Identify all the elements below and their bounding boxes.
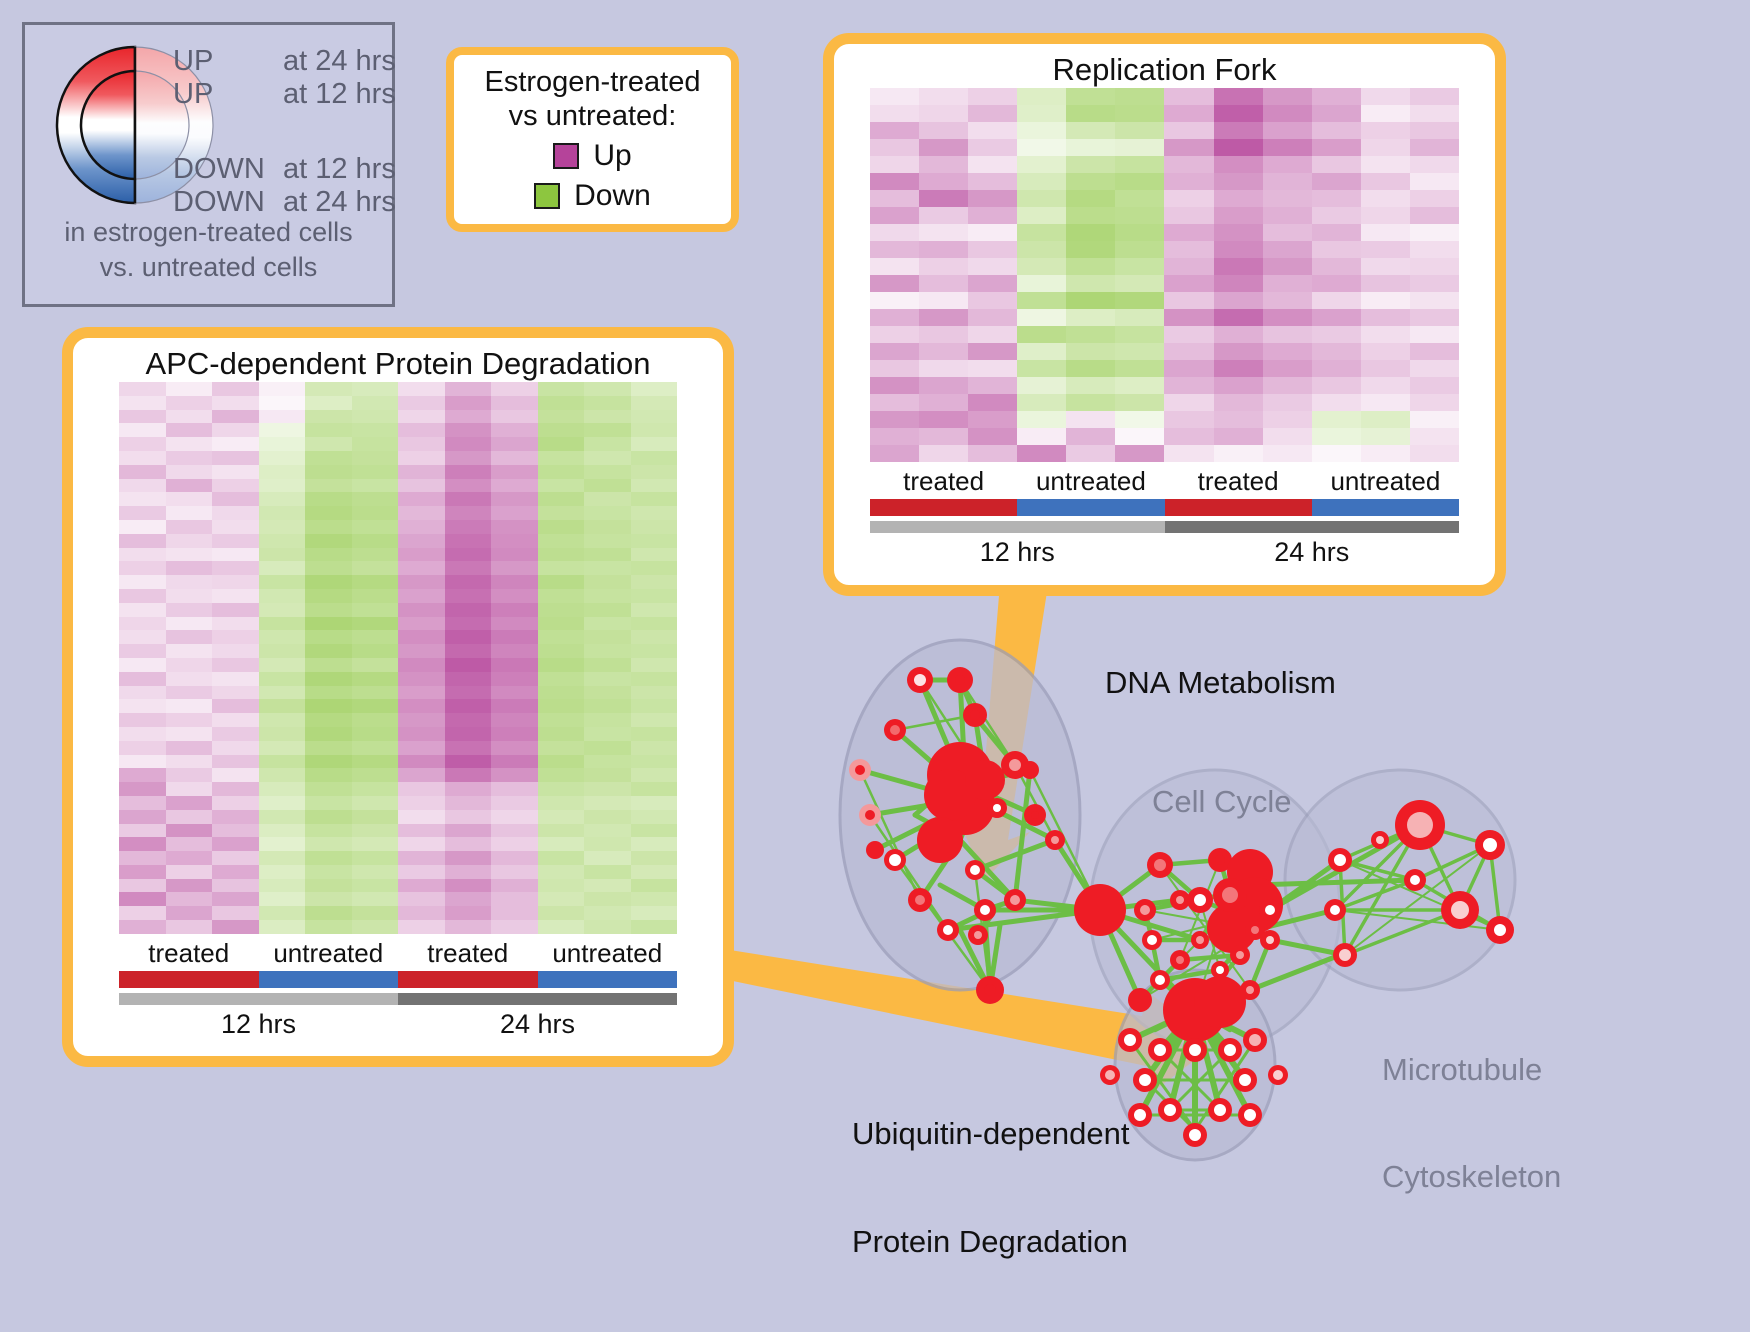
- heatmap-cell: [1164, 445, 1213, 462]
- heatmap-cell: [870, 292, 919, 309]
- heatmap-cell: [398, 465, 445, 479]
- heatmap-cell: [968, 258, 1017, 275]
- heatmap-cell: [870, 275, 919, 292]
- heatmap-cell: [1214, 224, 1263, 241]
- heatmap-cell: [968, 88, 1017, 105]
- heatmap-cell: [538, 479, 585, 493]
- heatmap-cell: [398, 851, 445, 865]
- heatmap-cell: [870, 360, 919, 377]
- heatmap-cell: [119, 892, 166, 906]
- heatmap-cell: [1361, 309, 1410, 326]
- heatmap-cell: [968, 173, 1017, 190]
- heatmap-cell: [631, 741, 678, 755]
- heatmap-cell: [491, 548, 538, 562]
- heatmap-cell: [352, 810, 399, 824]
- heatmap-cell: [538, 575, 585, 589]
- heatmap-cell: [259, 824, 306, 838]
- heatmap-cell: [1115, 207, 1164, 224]
- heatmap-cell: [1017, 156, 1066, 173]
- heatmap-cell: [1164, 275, 1213, 292]
- heatmap-cell: [1164, 122, 1213, 139]
- heatmap-cell: [166, 575, 213, 589]
- heatmap-cell: [1066, 360, 1115, 377]
- heatmap-cell: [1164, 292, 1213, 309]
- heatmap-cell: [352, 851, 399, 865]
- heatmap-cell: [491, 534, 538, 548]
- heatmap-cell: [305, 423, 352, 437]
- heatmap-cell: [445, 479, 492, 493]
- color-key-direction: UP: [173, 47, 283, 76]
- heatmap-cell: [491, 741, 538, 755]
- heatmap-cell: [1164, 173, 1213, 190]
- heatmap-cell: [1410, 224, 1459, 241]
- heatmap-cell: [1017, 241, 1066, 258]
- heatmap-cell: [1115, 275, 1164, 292]
- heatmap-cell: [212, 699, 259, 713]
- heatmap-cell: [1410, 343, 1459, 360]
- axis-group-label: untreated: [538, 938, 678, 969]
- heatmap-cell: [1017, 88, 1066, 105]
- panel-title-replication-fork: Replication Fork: [834, 52, 1495, 88]
- heatmap-cell: [919, 411, 968, 428]
- heatmap-cell: [352, 865, 399, 879]
- heatmap-cell: [445, 865, 492, 879]
- axis-group-labels: treated untreated treated untreated: [870, 466, 1459, 497]
- color-key-footer: in estrogen-treated cells vs. untreated …: [25, 215, 392, 284]
- heatmap-cell: [968, 190, 1017, 207]
- heatmap-cell: [1164, 139, 1213, 156]
- heatmap-cell: [584, 630, 631, 644]
- heatmap-cell: [491, 492, 538, 506]
- heatmap-cell: [212, 727, 259, 741]
- heatmap-cell: [584, 561, 631, 575]
- heatmap-cell: [212, 589, 259, 603]
- heatmap-cell: [305, 479, 352, 493]
- heatmap-cell: [538, 906, 585, 920]
- heatmap-cell: [166, 465, 213, 479]
- heatmap-cell: [1164, 190, 1213, 207]
- heatmap-cell: [631, 617, 678, 631]
- heatmap-cell: [259, 534, 306, 548]
- heatmap-cell: [1066, 190, 1115, 207]
- heatmap-cell: [398, 534, 445, 548]
- heatmap-cell: [398, 548, 445, 562]
- heatmap-cell: [538, 492, 585, 506]
- legend-item-down-label: Down: [574, 179, 651, 213]
- heatmap-cell: [305, 755, 352, 769]
- heatmap-cell: [1312, 139, 1361, 156]
- heatmap-cell: [1410, 275, 1459, 292]
- heatmap-cell: [1115, 411, 1164, 428]
- heatmap-cell: [352, 644, 399, 658]
- heatmap-cell: [870, 343, 919, 360]
- bar-segment-12hrs: [119, 993, 398, 1005]
- heatmap-cell: [166, 837, 213, 851]
- heatmap-cell: [398, 865, 445, 879]
- heatmap-cell: [445, 879, 492, 893]
- heatmap-cell: [1115, 360, 1164, 377]
- heatmap-cell: [445, 589, 492, 603]
- heatmap-cell: [1017, 207, 1066, 224]
- axis-group-bar: [870, 499, 1459, 516]
- heatmap-cell: [212, 892, 259, 906]
- heatmap-cell: [212, 506, 259, 520]
- heatmap-cell: [1115, 292, 1164, 309]
- heatmap-cell: [119, 603, 166, 617]
- heatmap-cell: [119, 630, 166, 644]
- heatmap-cell: [870, 156, 919, 173]
- heatmap-cell: [919, 292, 968, 309]
- heatmap-cell: [1164, 326, 1213, 343]
- heatmap-cell: [1263, 88, 1312, 105]
- heatmap-cell: [212, 713, 259, 727]
- heatmap-cell: [870, 173, 919, 190]
- heatmap-cell: [352, 479, 399, 493]
- heatmap-cell: [119, 699, 166, 713]
- heatmap-cell: [584, 644, 631, 658]
- heatmap-cell: [1066, 394, 1115, 411]
- heatmap-cell: [1066, 377, 1115, 394]
- heatmap-cell: [1361, 326, 1410, 343]
- heatmap-cell: [584, 451, 631, 465]
- heatmap-cell: [1410, 88, 1459, 105]
- heatmap-cell: [1410, 173, 1459, 190]
- heatmap-cell: [1066, 258, 1115, 275]
- heatmap-cell: [491, 423, 538, 437]
- heatmap-cell: [968, 326, 1017, 343]
- heatmap-cell: [119, 727, 166, 741]
- heatmap-cell: [166, 672, 213, 686]
- heatmap-cell: [491, 824, 538, 838]
- heatmap-cell: [445, 465, 492, 479]
- heatmap-cell: [352, 465, 399, 479]
- heatmap-cell: [584, 520, 631, 534]
- panel-title-apc-degradation: APC-dependent Protein Degradation: [73, 346, 723, 382]
- heatmap-cell: [1017, 445, 1066, 462]
- heatmap-cell: [398, 630, 445, 644]
- heatmap-cell: [631, 630, 678, 644]
- heatmap-cell: [870, 445, 919, 462]
- heatmap-cell: [259, 727, 306, 741]
- heatmap-cell: [1263, 343, 1312, 360]
- heatmap-cell: [1164, 428, 1213, 445]
- heatmap-cell: [398, 699, 445, 713]
- heatmap-cell: [445, 906, 492, 920]
- heatmap-cell: [119, 410, 166, 424]
- up-color-swatch: [553, 143, 579, 169]
- heatmap-cell: [538, 451, 585, 465]
- heatmap-cell: [1214, 190, 1263, 207]
- heatmap-cell: [352, 506, 399, 520]
- heatmap-cell: [259, 506, 306, 520]
- heatmap-cell: [491, 437, 538, 451]
- heatmap-cell: [968, 224, 1017, 241]
- heatmap-cell: [1263, 428, 1312, 445]
- heatmap-cell: [166, 548, 213, 562]
- color-key-footer-line2: vs. untreated cells: [25, 250, 392, 285]
- heatmap-cell: [119, 837, 166, 851]
- heatmap-cell: [584, 768, 631, 782]
- heatmap-cell: [870, 122, 919, 139]
- color-key-direction: DOWN: [173, 155, 283, 184]
- heatmap-cell: [212, 520, 259, 534]
- heatmap-cell: [584, 423, 631, 437]
- heatmap-cell: [259, 589, 306, 603]
- heatmap-cell: [1214, 377, 1263, 394]
- heatmap-cell: [119, 644, 166, 658]
- heatmap-cell: [305, 548, 352, 562]
- heatmap-cell: [584, 796, 631, 810]
- heatmap-cell: [1017, 190, 1066, 207]
- legend-item-up: Up: [553, 139, 631, 173]
- heatmap-cell: [1066, 411, 1115, 428]
- heatmap-cell: [166, 492, 213, 506]
- heatmap-cell: [212, 437, 259, 451]
- heatmap-cell: [352, 520, 399, 534]
- heatmap-cell: [919, 394, 968, 411]
- heatmap-cell: [1361, 343, 1410, 360]
- heatmap-cell: [584, 658, 631, 672]
- heatmap-cell: [584, 617, 631, 631]
- heatmap-cell: [1312, 207, 1361, 224]
- heatmap-cell: [1312, 326, 1361, 343]
- heatmap-cell: [166, 630, 213, 644]
- heatmap-cell: [919, 224, 968, 241]
- heatmap-cell: [919, 445, 968, 462]
- heatmap-cell: [352, 534, 399, 548]
- heatmap-cell: [398, 603, 445, 617]
- heatmap-cell: [538, 824, 585, 838]
- heatmap-cell: [259, 851, 306, 865]
- heatmap-cell: [631, 603, 678, 617]
- heatmap-cell: [491, 686, 538, 700]
- heatmap-cell: [445, 492, 492, 506]
- heatmap-cell: [631, 479, 678, 493]
- heatmap-cell: [305, 768, 352, 782]
- heatmap-cell: [259, 658, 306, 672]
- heatmap-cell: [119, 768, 166, 782]
- heatmap-cell: [491, 658, 538, 672]
- heatmap-cell: [1017, 292, 1066, 309]
- heatmap-cell: [491, 589, 538, 603]
- heatmap-cell: [631, 810, 678, 824]
- heatmap-cell: [259, 837, 306, 851]
- heatmap-cell: [538, 920, 585, 934]
- heatmap-cell: [1263, 394, 1312, 411]
- heatmap-cell: [1066, 122, 1115, 139]
- heatmap-cell: [166, 534, 213, 548]
- heatmap-cell: [445, 451, 492, 465]
- bar-segment-untreated: [1017, 499, 1164, 516]
- heatmap-cell: [212, 672, 259, 686]
- heatmap-cell: [968, 360, 1017, 377]
- heatmap-cell: [631, 727, 678, 741]
- heatmap-cell: [212, 906, 259, 920]
- color-key-time: at 24 hrs: [283, 47, 396, 76]
- heatmap-cell: [1263, 445, 1312, 462]
- heatmap-cell: [631, 851, 678, 865]
- heatmap-cell: [352, 699, 399, 713]
- heatmap-cell: [538, 686, 585, 700]
- heatmap-cell: [305, 824, 352, 838]
- heatmap-cell: [1115, 394, 1164, 411]
- heatmap-cell: [119, 824, 166, 838]
- heatmap-cell: [166, 810, 213, 824]
- heatmap-cell: [119, 672, 166, 686]
- heatmap-cell: [538, 603, 585, 617]
- heatmap-cell: [491, 396, 538, 410]
- estrogen-legend-header: Estrogen-treated vs untreated:: [484, 66, 700, 133]
- heatmap-cell: [398, 506, 445, 520]
- heatmap-cell: [119, 575, 166, 589]
- heatmap-cell: [305, 396, 352, 410]
- heatmap-cell: [305, 658, 352, 672]
- heatmap-cell: [445, 520, 492, 534]
- heatmap-cell: [305, 644, 352, 658]
- heatmap-cell: [491, 782, 538, 796]
- heatmap-cell: [1410, 105, 1459, 122]
- heatmap-cell: [1164, 224, 1213, 241]
- heatmap-cell: [1410, 445, 1459, 462]
- heatmap-cell: [1115, 122, 1164, 139]
- heatmap-cell: [119, 589, 166, 603]
- heatmap-cell: [538, 672, 585, 686]
- heatmap-cell: [259, 892, 306, 906]
- heatmap-cell: [119, 920, 166, 934]
- heatmap-cell: [1115, 156, 1164, 173]
- heatmap-cell: [212, 451, 259, 465]
- heatmap-cell: [1164, 105, 1213, 122]
- axis-time-label: 24 hrs: [398, 1009, 677, 1040]
- heatmap-cell: [305, 506, 352, 520]
- heatmap-cell: [1214, 275, 1263, 292]
- heatmap-cell: [631, 548, 678, 562]
- heatmap-cell: [1361, 105, 1410, 122]
- heatmap-cell: [631, 492, 678, 506]
- heatmap-cell: [631, 410, 678, 424]
- heatmap-cell: [352, 741, 399, 755]
- heatmap-cell: [538, 782, 585, 796]
- heatmap-cell: [166, 506, 213, 520]
- heatmap-cell: [305, 810, 352, 824]
- heatmap-cell: [1361, 428, 1410, 445]
- heatmap-cell: [631, 699, 678, 713]
- heatmap-cell: [631, 782, 678, 796]
- heatmap-cell: [259, 686, 306, 700]
- heatmap-cell: [538, 755, 585, 769]
- heatmap-cell: [584, 755, 631, 769]
- heatmap-cell: [398, 423, 445, 437]
- heatmap-cell: [445, 672, 492, 686]
- heatmap-cell: [919, 360, 968, 377]
- heatmap-cell: [1410, 190, 1459, 207]
- heatmap-cell: [1410, 292, 1459, 309]
- heatmap-cell: [1312, 292, 1361, 309]
- heatmap-cell: [119, 423, 166, 437]
- heatmap-cell: [631, 589, 678, 603]
- heatmap-cell: [491, 837, 538, 851]
- heatmap-cell: [305, 589, 352, 603]
- heatmap-cell: [1115, 224, 1164, 241]
- heatmap-cell: [538, 713, 585, 727]
- heatmap-cell: [119, 796, 166, 810]
- heatmap-cell: [1066, 275, 1115, 292]
- heatmap-cell: [1312, 394, 1361, 411]
- heatmap-cell: [259, 548, 306, 562]
- heatmap-cell: [1312, 258, 1361, 275]
- heatmap-cell: [1312, 122, 1361, 139]
- heatmap-cell: [119, 617, 166, 631]
- heatmap-cell: [1410, 377, 1459, 394]
- cluster-label-ubiquitin-line1: Ubiquitin-dependent: [852, 1116, 1130, 1152]
- heatmap-cell: [919, 88, 968, 105]
- heatmap-cell: [352, 768, 399, 782]
- heatmap-cell: [259, 451, 306, 465]
- color-key-time: at 24 hrs: [283, 188, 396, 217]
- heatmap-cell: [491, 644, 538, 658]
- heatmap-cell: [166, 920, 213, 934]
- heatmap-cell: [212, 755, 259, 769]
- heatmap-cell: [445, 810, 492, 824]
- heatmap-cell: [1017, 105, 1066, 122]
- heatmap-cell: [259, 437, 306, 451]
- heatmap-cell: [1263, 411, 1312, 428]
- color-key-row: UP at 24 hrs: [173, 47, 398, 76]
- heatmap-cell: [870, 326, 919, 343]
- axis-group-label: untreated: [1312, 466, 1459, 497]
- figure-canvas: UP at 24 hrs UP at 12 hrs DOWN at 12 hrs…: [0, 0, 1750, 1279]
- heatmap-cell: [1410, 258, 1459, 275]
- heatmap-cell: [445, 837, 492, 851]
- heatmap-cell: [166, 658, 213, 672]
- heatmap-cell: [1214, 394, 1263, 411]
- heatmap-cell: [1115, 88, 1164, 105]
- heatmap-cell: [584, 465, 631, 479]
- heatmap-cell: [1263, 190, 1312, 207]
- heatmap-cell: [352, 672, 399, 686]
- heatmap-cell: [119, 479, 166, 493]
- heatmap-cell: [1214, 122, 1263, 139]
- heatmap-cell: [968, 309, 1017, 326]
- heatmap-cell: [1410, 428, 1459, 445]
- axis-group-label: untreated: [1017, 466, 1164, 497]
- heatmap-cell: [631, 437, 678, 451]
- heatmap-cell: [305, 699, 352, 713]
- heatmap-cell: [352, 561, 399, 575]
- heatmap-cell: [968, 275, 1017, 292]
- heatmap-cell: [1115, 105, 1164, 122]
- heatmap-cell: [119, 686, 166, 700]
- heatmap-cell: [1312, 156, 1361, 173]
- heatmap-cell: [631, 644, 678, 658]
- heatmap-cell: [491, 451, 538, 465]
- heatmap-cell: [398, 741, 445, 755]
- heatmap-cell: [1214, 411, 1263, 428]
- heatmap-cell: [305, 672, 352, 686]
- heatmap-cell: [870, 411, 919, 428]
- heatmap-cell: [491, 465, 538, 479]
- heatmap-cell: [445, 410, 492, 424]
- estrogen-legend-header-line1: Estrogen-treated: [484, 66, 700, 100]
- heatmap-cell: [259, 492, 306, 506]
- heatmap-cell: [1410, 309, 1459, 326]
- heatmap-cell: [1066, 241, 1115, 258]
- heatmap-cell: [166, 865, 213, 879]
- heatmap-cell: [1263, 258, 1312, 275]
- heatmap-cell: [305, 686, 352, 700]
- axis-time-label: 12 hrs: [119, 1009, 398, 1040]
- heatmap-cell: [1066, 343, 1115, 360]
